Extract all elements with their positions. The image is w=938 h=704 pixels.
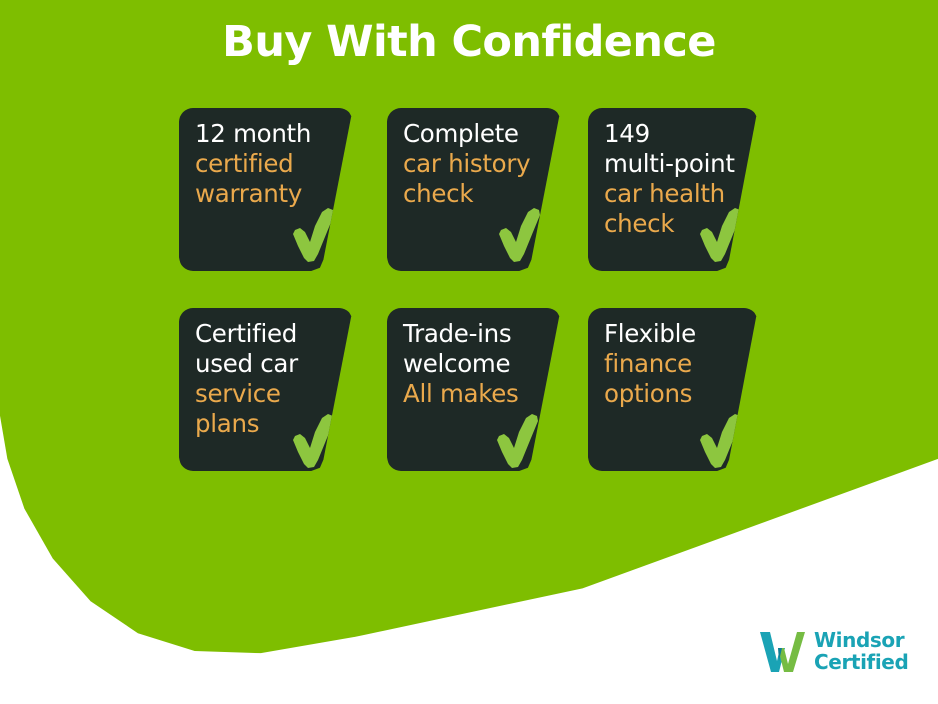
logo-line-2: Certified: [814, 651, 908, 673]
benefit-card-text: 12 month certified warranty: [195, 119, 335, 209]
benefit-card-grid: 12 month certified warranty Complete car…: [179, 108, 759, 508]
benefit-line: multi-point: [604, 149, 740, 179]
benefit-line: All makes: [403, 379, 543, 409]
poster-canvas: Buy With Confidence 12 month certified w…: [0, 0, 938, 704]
benefit-card-text: Certified used car service plans: [195, 319, 335, 439]
benefit-card-flexible-finance-options[interactable]: Flexible finance options: [588, 308, 758, 471]
checkmark-icon: [493, 412, 541, 470]
benefit-line: plans: [195, 409, 335, 439]
benefit-card-row: 12 month certified warranty Complete car…: [179, 108, 759, 308]
benefit-line: Trade-ins: [403, 319, 543, 349]
checkmark-icon: [495, 206, 543, 264]
benefit-line: check: [403, 179, 543, 209]
benefit-line: Complete: [403, 119, 543, 149]
benefit-card-12-month-certified-warranty[interactable]: 12 month certified warranty: [179, 108, 353, 271]
benefit-line: 12 month: [195, 119, 335, 149]
benefit-line: options: [604, 379, 740, 409]
benefit-line: check: [604, 209, 740, 239]
benefit-card-certified-used-car-service-plans[interactable]: Certified used car service plans: [179, 308, 353, 471]
benefit-line: certified: [195, 149, 335, 179]
benefit-line: car health: [604, 179, 740, 209]
benefit-line: car history: [403, 149, 543, 179]
page-title: Buy With Confidence: [0, 18, 938, 67]
benefit-card-text: Trade-ins welcome All makes: [403, 319, 543, 409]
benefit-card-complete-car-history-check[interactable]: Complete car history check: [387, 108, 561, 271]
logo-wordmark: Windsor Certified: [814, 629, 908, 673]
benefit-line: service: [195, 379, 335, 409]
benefit-line: finance: [604, 349, 740, 379]
logo-line-1: Windsor: [814, 629, 908, 651]
benefit-line: Certified: [195, 319, 335, 349]
benefit-card-text: 149 multi-point car health check: [604, 119, 740, 239]
benefit-card-trade-ins-welcome-all-makes[interactable]: Trade-ins welcome All makes: [387, 308, 561, 471]
checkmark-icon: [289, 206, 337, 264]
benefit-card-text: Flexible finance options: [604, 319, 740, 409]
windsor-w-icon: [758, 628, 806, 674]
windsor-certified-logo: Windsor Certified: [758, 622, 928, 680]
benefit-line: 149: [604, 119, 740, 149]
benefit-card-149-multi-point-car-health-check[interactable]: 149 multi-point car health check: [588, 108, 758, 271]
benefit-card-text: Complete car history check: [403, 119, 543, 209]
benefit-line: welcome: [403, 349, 543, 379]
checkmark-icon: [696, 412, 744, 470]
benefit-line: Flexible: [604, 319, 740, 349]
benefit-line: used car: [195, 349, 335, 379]
benefit-card-row: Certified used car service plans Trade-i…: [179, 308, 759, 508]
benefit-line: warranty: [195, 179, 335, 209]
